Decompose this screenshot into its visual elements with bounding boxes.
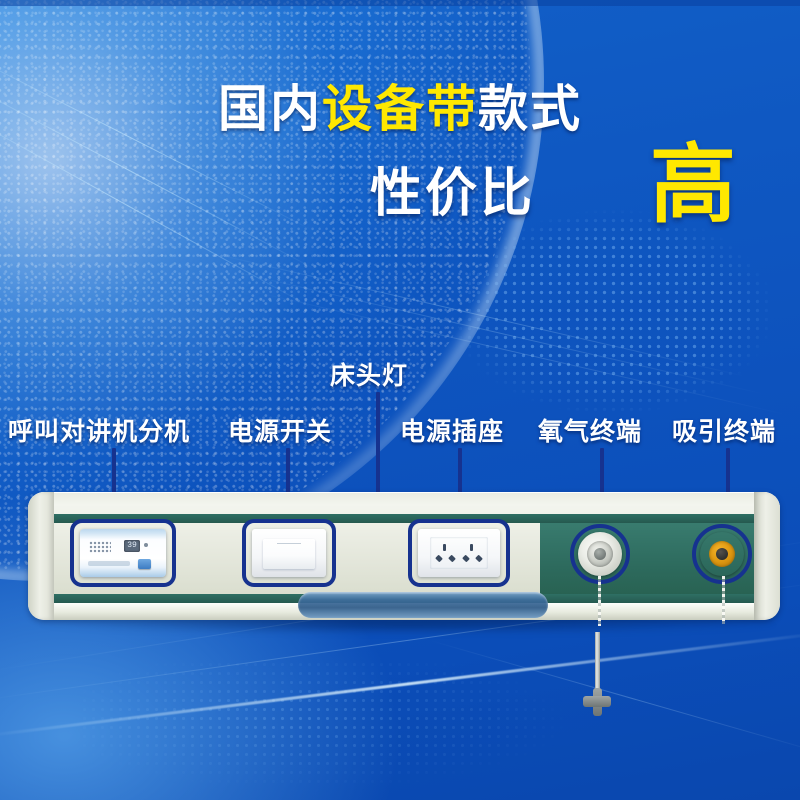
callout-label-oxygen: 氧气终端 <box>538 412 642 448</box>
callout-label-bed-light: 床头灯 <box>330 356 408 392</box>
callout-label-intercom: 呼叫对讲机分机 <box>8 412 190 448</box>
highlight-box-power-switch <box>242 519 336 587</box>
headline-part-3: 款式 <box>478 84 582 134</box>
callout-label-power-socket: 电源插座 <box>400 412 504 448</box>
highlight-circle-suction <box>692 524 752 584</box>
panel-end-cap-left <box>28 492 54 620</box>
headline-part-2: 设备带 <box>322 84 478 134</box>
headline-part-1: 国内 <box>218 84 322 134</box>
highlight-box-intercom <box>70 519 176 587</box>
headline-line-1: 国内设备带款式 <box>0 84 800 134</box>
promo-banner: 国内设备带款式 性价比 高 呼叫对讲机分机 电源开关 床头灯 电源插座 氧气终端… <box>0 0 800 800</box>
headline-emphasis-gao: 高 <box>650 142 736 228</box>
bed-light-tube[interactable] <box>298 592 548 618</box>
highlight-circle-oxygen <box>570 524 630 584</box>
callout-label-suction: 吸引终端 <box>672 412 776 448</box>
callout-label-power-switch: 电源开关 <box>228 412 332 448</box>
panel-end-cap-right <box>754 492 780 620</box>
pull-cord-handle[interactable] <box>583 688 611 716</box>
suction-terminal-cord <box>722 576 725 624</box>
highlight-box-power-socket <box>408 519 510 587</box>
headline-line-2: 性价比 <box>370 168 535 220</box>
headline-block: 国内设备带款式 <box>0 84 800 134</box>
oxygen-terminal-cord <box>598 576 601 626</box>
